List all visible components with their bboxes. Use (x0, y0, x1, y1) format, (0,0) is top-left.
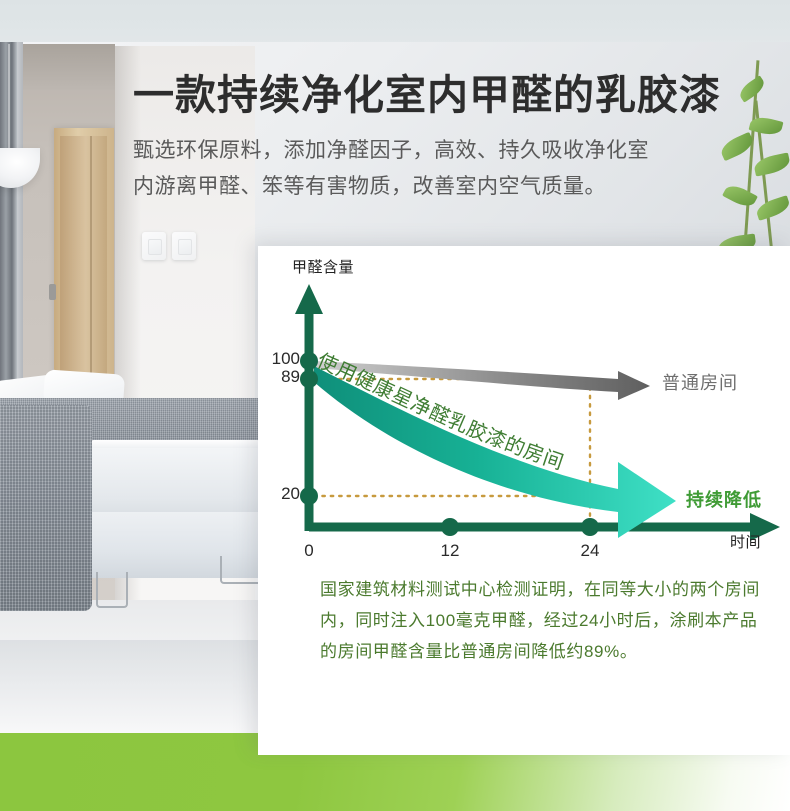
x-tick-12: 12 (432, 541, 468, 561)
point-y89 (300, 370, 318, 388)
point-y100 (300, 352, 318, 370)
promo-banner: 一款持续净化室内甲醛的乳胶漆 甄选环保原料，添加净醛因子，高效、持久吸收净化室 … (0, 0, 790, 811)
ceiling (0, 0, 790, 44)
sofa-arm-texture (0, 405, 92, 611)
x-tick-0: 0 (291, 541, 327, 561)
x-axis (309, 513, 780, 541)
point-y20 (300, 487, 318, 505)
page-title: 一款持续净化室内甲醛的乳胶漆 (133, 68, 733, 122)
y-axis-title: 甲醛含量 (292, 256, 354, 277)
y-tick-89: 89 (252, 367, 300, 387)
chart-card: 使用健康星净醛乳胶漆的房间 甲醛含量 时间 100 89 20 0 12 24 (258, 246, 790, 755)
chart-note: 国家建筑材料测试中心检测证明，在同等大小的两个房间内，同时注入100毫克甲醛，经… (320, 574, 770, 667)
wall-switch-icon (172, 232, 196, 260)
corridor-wall-shade (23, 44, 115, 90)
formaldehyde-chart: 使用健康星净醛乳胶漆的房间 甲醛含量 时间 100 89 20 0 12 24 (258, 246, 790, 546)
point-x24 (581, 518, 599, 536)
y-tick-20: 20 (252, 484, 300, 504)
hero-copy: 一款持续净化室内甲醛的乳胶漆 甄选环保原料，添加净醛因子，高效、持久吸收净化室 … (133, 68, 733, 205)
lamp-cord (8, 44, 10, 150)
x-tick-24: 24 (572, 541, 608, 561)
sofa-leg (96, 572, 128, 608)
point-x12 (441, 518, 459, 536)
legend-continuous-drop: 持续降低 (686, 486, 762, 512)
door-handle (49, 284, 56, 300)
hero-subtitle-line-1: 甄选环保原料，添加净醛因子，高效、持久吸收净化室 (133, 133, 733, 169)
wall-switch-icon (142, 232, 166, 260)
x-axis-title: 时间 (730, 531, 761, 552)
legend-normal-room: 普通房间 (662, 369, 738, 395)
sofa-seat (88, 448, 263, 520)
y-tick-100: 100 (252, 349, 300, 369)
hero-subtitle-line-2: 内游离甲醛、笨等有害物质，改善室内空气质量。 (133, 169, 733, 205)
